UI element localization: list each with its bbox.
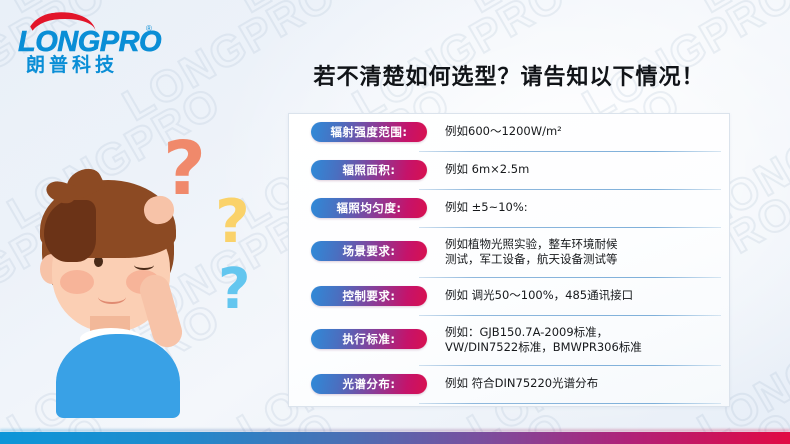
spec-label-badge: 控制要求: bbox=[311, 286, 427, 306]
spec-label-badge: 辐照面积: bbox=[311, 160, 427, 180]
spec-value-line: 例如植物光照实验，整车环境耐候 bbox=[445, 237, 719, 252]
spec-row: 光谱分布:例如 符合DIN75220光谱分布 bbox=[289, 366, 729, 404]
row-separator bbox=[419, 403, 721, 404]
spec-value: 例如 ±5~10%: bbox=[445, 198, 719, 215]
spec-row: 场景要求:例如植物光照实验，整车环境耐候测试，军工设备，航天设备测试等 bbox=[289, 228, 729, 278]
watermark-text: LONGPRO bbox=[230, 0, 460, 23]
page-title: 若不清楚如何选型？请告知以下情况！ bbox=[287, 59, 731, 91]
bottom-accent-bar bbox=[0, 432, 790, 444]
spec-label-badge: 辐射强度范围: bbox=[311, 122, 427, 142]
spec-value-line: 例如 调光50～100%，485通讯接口 bbox=[445, 288, 719, 303]
spec-row-list: 辐射强度范围:例如600～1200W/m²辐照面积:例如 6m×2.5m辐照均匀… bbox=[289, 114, 729, 404]
spec-row: 辐照面积:例如 6m×2.5m bbox=[289, 152, 729, 190]
spec-value: 例如：GJB150.7A-2009标准，VW/DIN7522标准，BMWPR30… bbox=[445, 323, 719, 355]
spec-value-line: 例如：GJB150.7A-2009标准， bbox=[445, 325, 719, 340]
spec-row: 辐照均匀度:例如 ±5~10%: bbox=[289, 190, 729, 228]
spec-value-line: 例如 6m×2.5m bbox=[445, 162, 719, 177]
spec-row: 控制要求:例如 调光50～100%，485通讯接口 bbox=[289, 278, 729, 316]
logo-text-cn: 朗普科技 bbox=[26, 50, 118, 77]
spec-label-badge: 辐照均匀度: bbox=[311, 198, 427, 218]
slide-canvas: LONGPROLONGPROLONGPROLONGPROLONGPROLONGP… bbox=[0, 0, 790, 444]
company-logo: LONGPRO ® 朗普科技 bbox=[18, 10, 168, 66]
spec-value: 例如 调光50～100%，485通讯接口 bbox=[445, 286, 719, 303]
registered-trademark-icon: ® bbox=[146, 24, 152, 33]
boy-cheek-left bbox=[60, 270, 94, 294]
spec-value: 例如 符合DIN75220光谱分布 bbox=[445, 374, 719, 391]
boy-winking-eye bbox=[134, 260, 154, 270]
spec-label-badge: 执行标准: bbox=[311, 329, 427, 349]
watermark-text: LONGPRO bbox=[690, 0, 790, 23]
question-mark-coral: ? bbox=[163, 132, 206, 206]
spec-label-badge: 光谱分布: bbox=[311, 374, 427, 394]
spec-value: 例如植物光照实验，整车环境耐候测试，军工设备，航天设备测试等 bbox=[445, 235, 719, 267]
spec-value-line: 例如 符合DIN75220光谱分布 bbox=[445, 376, 719, 391]
spec-value: 例如 6m×2.5m bbox=[445, 160, 719, 177]
boy-hair-shadow bbox=[44, 200, 96, 262]
spec-value-line: 例如 ±5~10%: bbox=[445, 200, 719, 215]
boy-mouth bbox=[98, 290, 126, 304]
spec-value-line: 测试，军工设备，航天设备测试等 bbox=[445, 252, 719, 267]
watermark-text: LONGPRO bbox=[460, 0, 690, 23]
spec-value: 例如600～1200W/m² bbox=[445, 122, 719, 139]
confused-boy-illustration bbox=[22, 178, 212, 422]
spec-panel: 辐射强度范围:例如600～1200W/m²辐照面积:例如 6m×2.5m辐照均匀… bbox=[288, 113, 730, 407]
spec-label-badge: 场景要求: bbox=[311, 241, 427, 261]
spec-value-line: 例如600～1200W/m² bbox=[445, 124, 719, 139]
spec-value-line: VW/DIN7522标准，BMWPR306标准 bbox=[445, 340, 719, 355]
question-mark-blue: ? bbox=[218, 262, 250, 318]
spec-row: 执行标准:例如：GJB150.7A-2009标准，VW/DIN7522标准，BM… bbox=[289, 316, 729, 366]
question-mark-yellow: ? bbox=[215, 192, 250, 252]
spec-row: 辐射强度范围:例如600～1200W/m² bbox=[289, 114, 729, 152]
